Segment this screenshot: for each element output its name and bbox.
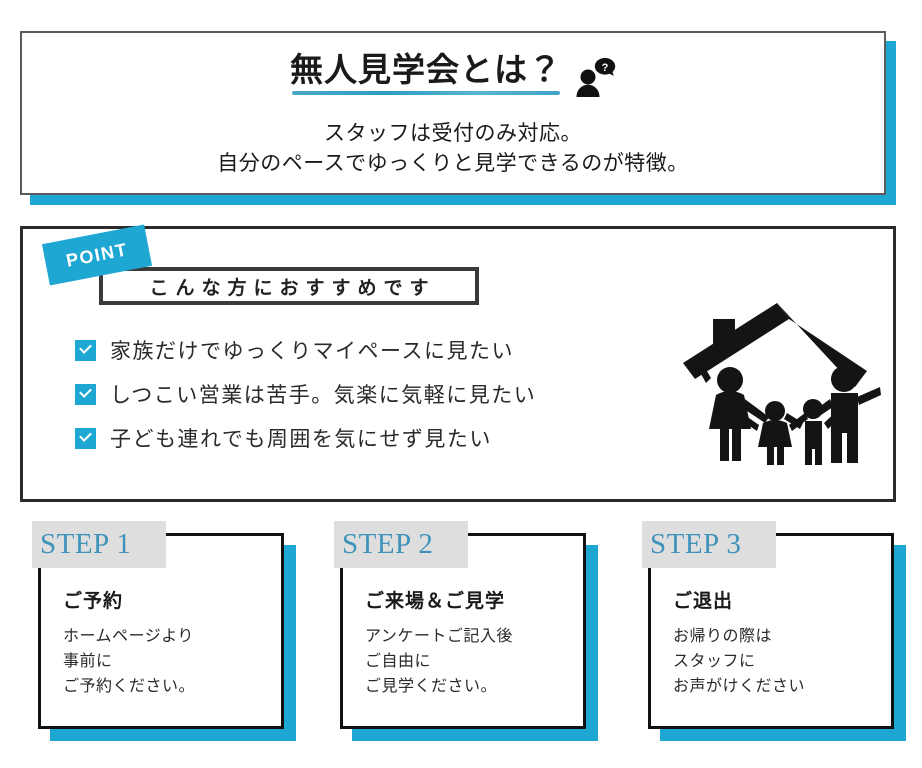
step-card-2-line-3: ご見学ください。 xyxy=(365,675,583,700)
step-card-1-body: ご予約 ホームページより 事前に ご予約ください。 xyxy=(41,586,281,699)
step-card-1-lines: ホームページより 事前に ご予約ください。 xyxy=(63,625,281,699)
page-title: 無人見学会とは？ xyxy=(290,49,562,96)
step-card-2-lines: アンケートご記入後 ご自由に ご見学ください。 xyxy=(365,625,583,699)
recommendation-heading-text: こんな方におすすめです xyxy=(142,273,435,300)
list-item: しつこい営業は苦手。気楽に気軽に見たい xyxy=(75,379,536,409)
steps-panel: ご予約 ホームページより 事前に ご予約ください。 STEP 1 ご来場＆ご見学… xyxy=(0,521,922,751)
step-card-3-line-1: お帰りの際は xyxy=(673,625,891,650)
step-card-1-title: ご予約 xyxy=(63,586,281,613)
step-card-2-line-2: ご自由に xyxy=(365,650,583,675)
list-item: 家族だけでゆっくりマイペースに見たい xyxy=(75,335,536,365)
step-card-3-line-2: スタッフに xyxy=(673,650,891,675)
step-card-2-title: ご来場＆ご見学 xyxy=(365,586,583,613)
step-card-1-line-3: ご予約ください。 xyxy=(63,675,281,700)
step-badge-2-label: STEP 2 xyxy=(334,528,433,561)
list-item-label: 子ども連れでも周囲を気にせず見たい xyxy=(110,423,492,453)
recommendation-panel: POINT こんな方におすすめです 家族だけでゆっくりマイペースに見たい しつこ… xyxy=(20,226,896,502)
title-panel: 無人見学会とは？ ? スタッフは受付のみ対応。 自分のペースでゆっくりと見学でき… xyxy=(20,31,886,195)
title-subtitle: スタッフは受付のみ対応。 自分のペースでゆっくりと見学できるのが特徴。 xyxy=(22,119,884,180)
checkbox-checked-icon xyxy=(75,428,96,449)
step-card-3-line-3: お声がけください xyxy=(673,675,891,700)
svg-text:?: ? xyxy=(602,62,609,74)
step-card-3-title: ご退出 xyxy=(673,586,891,613)
step-badge-3: STEP 3 xyxy=(642,521,776,568)
title-row: 無人見学会とは？ ? xyxy=(22,49,884,104)
recommendation-heading: こんな方におすすめです xyxy=(99,267,479,305)
subtitle-line-2: 自分のペースでゆっくりと見学できるのが特徴。 xyxy=(22,149,884,179)
step-card-3-body: ご退出 お帰りの際は スタッフに お声がけください xyxy=(651,586,891,699)
step-card-3-lines: お帰りの際は スタッフに お声がけください xyxy=(673,625,891,699)
checkbox-checked-icon xyxy=(75,384,96,405)
step-card-2-line-1: アンケートご記入後 xyxy=(365,625,583,650)
checkbox-checked-icon xyxy=(75,340,96,361)
step-card-1-line-1: ホームページより xyxy=(63,625,281,650)
page-title-text: 無人見学会とは？ xyxy=(290,51,562,88)
step-badge-1-label: STEP 1 xyxy=(32,528,131,561)
subtitle-line-1: スタッフは受付のみ対応。 xyxy=(22,119,884,149)
title-underline-accent xyxy=(292,91,560,95)
person-question-icon: ? xyxy=(572,55,616,104)
step-card-1-line-2: 事前に xyxy=(63,650,281,675)
list-item-label: 家族だけでゆっくりマイペースに見たい xyxy=(110,335,514,365)
step-badge-3-label: STEP 3 xyxy=(642,528,741,561)
point-badge-label: POINT xyxy=(64,239,129,272)
step-badge-1: STEP 1 xyxy=(32,521,166,568)
step-card-2-body: ご来場＆ご見学 アンケートご記入後 ご自由に ご見学ください。 xyxy=(343,586,583,699)
list-item-label: しつこい営業は苦手。気楽に気軽に見たい xyxy=(110,379,536,409)
step-badge-2: STEP 2 xyxy=(334,521,468,568)
recommendation-checklist: 家族だけでゆっくりマイペースに見たい しつこい営業は苦手。気楽に気軽に見たい 子… xyxy=(75,335,536,453)
list-item: 子ども連れでも周囲を気にせず見たい xyxy=(75,423,536,453)
house-family-icon xyxy=(681,301,881,466)
